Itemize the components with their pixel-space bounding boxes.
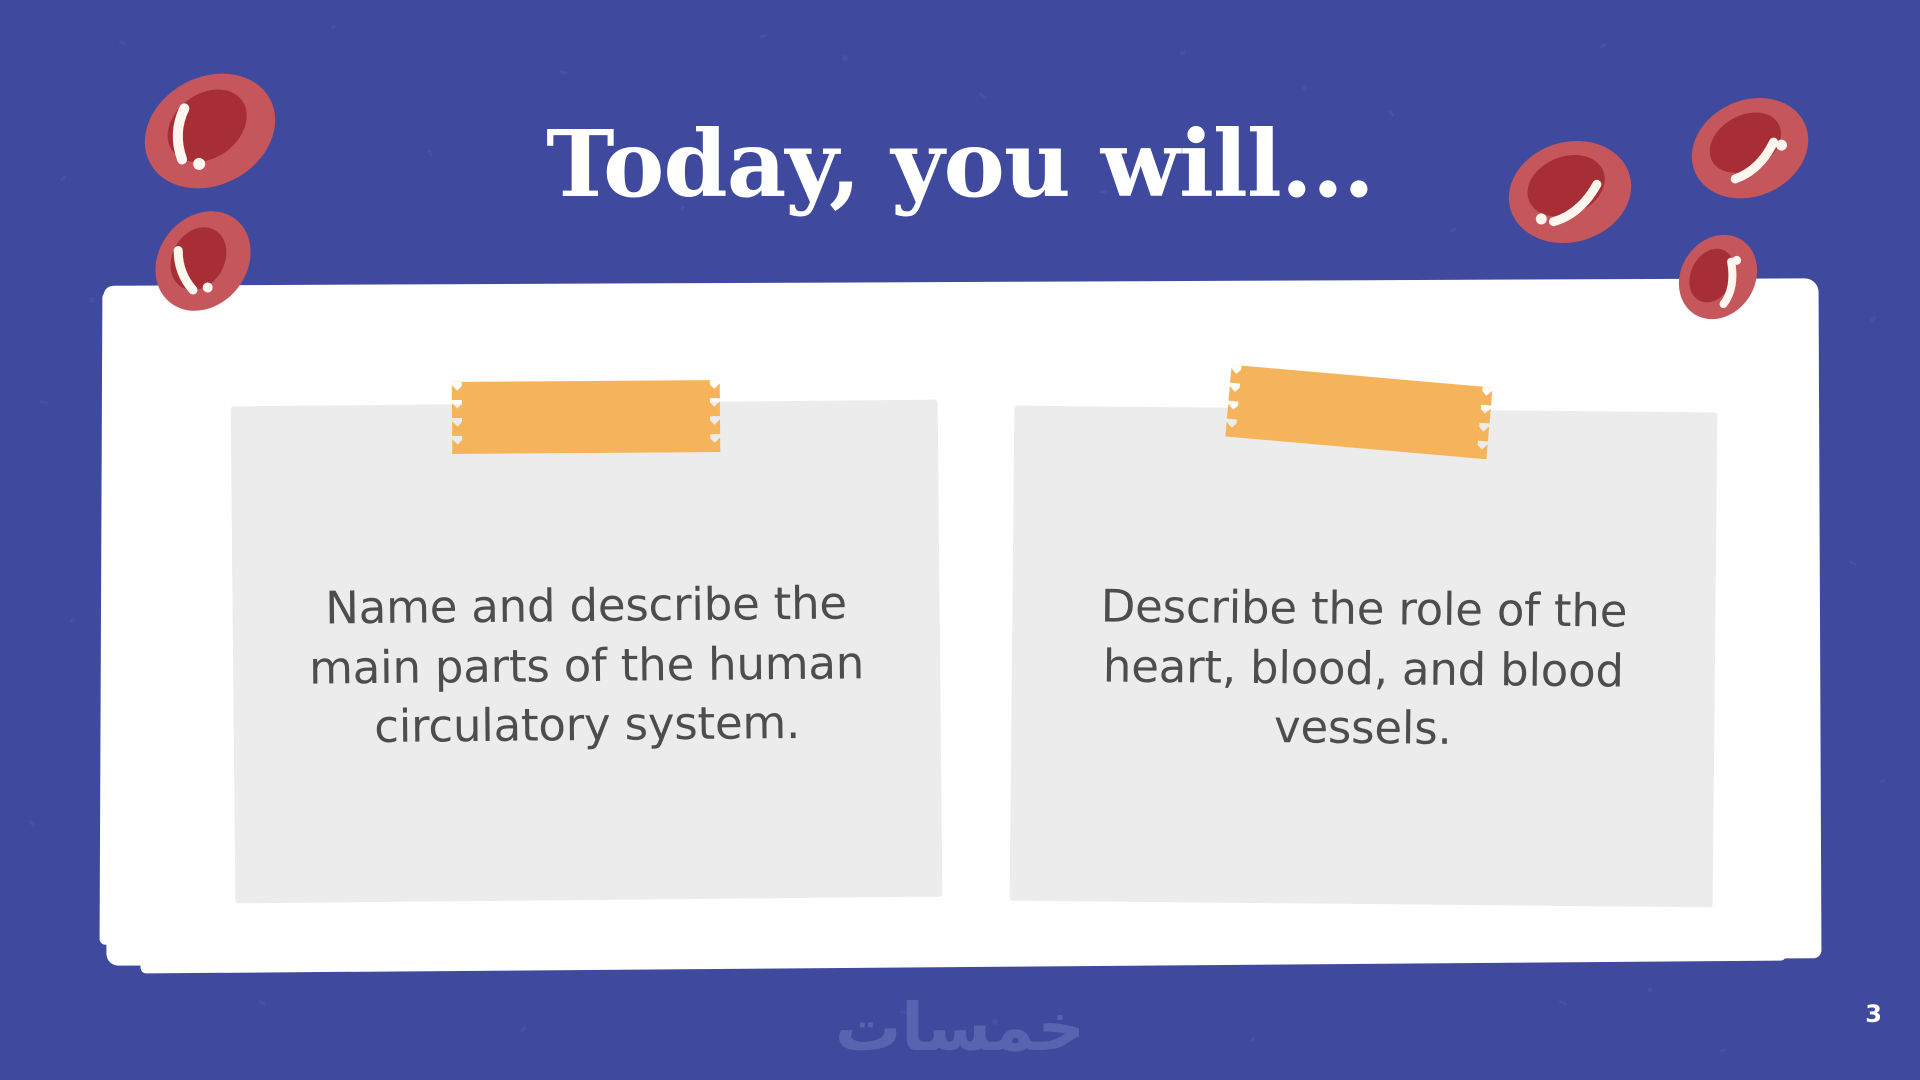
washi-tape-left — [462, 380, 710, 454]
page-title: Today, you will... — [0, 118, 1920, 210]
slide-root: Today, you will... — [0, 0, 1920, 1080]
objective-card-1-text: Name and describe the main parts of the … — [232, 572, 941, 758]
objective-card-2-text: Describe the role of the heart, blood, a… — [1011, 575, 1716, 761]
objective-card-1[interactable]: Name and describe the main parts of the … — [231, 400, 943, 904]
objective-card-2[interactable]: Describe the role of the heart, blood, a… — [1010, 406, 1718, 908]
watermark-khamsat: خمسات — [0, 989, 1920, 1066]
page-number: 3 — [1865, 1000, 1882, 1028]
